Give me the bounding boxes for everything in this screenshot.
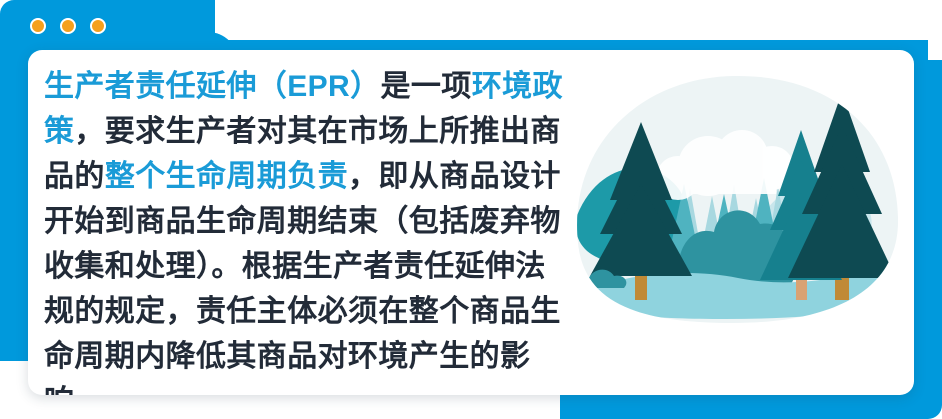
window-dot-2-icon[interactable] [60, 18, 76, 34]
epr-info-card: 生产者责任延伸（EPR）是一项环境政策，要求生产者对其在市场上所推出商品的整个生… [0, 0, 942, 419]
trunk-left-icon [635, 274, 647, 300]
text-segment-highlight-4: 整个生命周期负责 [105, 160, 348, 193]
forest-illustration [558, 68, 908, 338]
epr-definition-text: 生产者责任延伸（EPR）是一项环境政策，要求生产者对其在市场上所推出商品的整个生… [44, 64, 574, 395]
window-titlebar [30, 10, 106, 42]
window-dot-1-icon[interactable] [30, 18, 46, 34]
text-segment-highlight-0: 生产者责任延伸（EPR） [44, 70, 380, 103]
frame-notch-right-edge [928, 0, 942, 60]
window-dot-3-icon[interactable] [90, 18, 106, 34]
text-segment-plain-1: 是一项 [380, 70, 471, 103]
text-segment-plain-5: ，即从商品设计开始到商品生命周期结束（包括废弃物收集和处理）。根据生产者责任延伸… [44, 160, 561, 395]
frame-notch-top-right [215, 0, 942, 40]
content-card: 生产者责任延伸（EPR）是一项环境政策，要求生产者对其在市场上所推出商品的整个生… [28, 50, 914, 395]
